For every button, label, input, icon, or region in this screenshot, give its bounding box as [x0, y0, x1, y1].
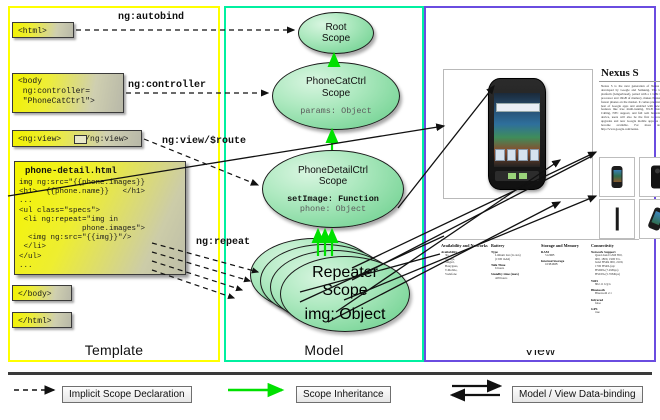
- scope-phonecatctrl: PhoneCatCtrl Scope params: Object: [272, 62, 400, 130]
- label-ng-controller: ng:controller: [128, 80, 206, 91]
- phone-detail-template-note: phone-detail.html img ng:src="{{phone.im…: [14, 161, 186, 275]
- phone-dock: [495, 171, 539, 181]
- legend-divider: [8, 372, 652, 375]
- spec-value: Vodafone: [441, 273, 489, 277]
- phone-specs-table: Availability and Networks Availability 3…: [441, 243, 639, 305]
- spec-value: 428 hours: [491, 277, 539, 281]
- scope-phonecatctrl-attr-params: params: Object: [300, 106, 371, 116]
- ngview-slot-icon: [74, 135, 87, 144]
- scope-repeater-line2: Scope: [322, 282, 367, 300]
- phone-thumbnail-2[interactable]: [639, 157, 660, 197]
- label-ng-repeat: ng:repeat: [196, 237, 250, 248]
- scope-repeater-attr-img: img: Object: [305, 306, 386, 324]
- spec-column-connectivity: Connectivity Network Support Quad-band G…: [591, 243, 639, 305]
- spec-value: 16384MB: [541, 263, 589, 267]
- label-ng-autobind: ng:autobind: [118, 12, 184, 23]
- scope-root-line1: Root: [325, 22, 346, 34]
- column-model-label: Model: [226, 342, 422, 358]
- spec-column-battery: Battery Type Lithium Ion (Li-Ion) (1500 …: [491, 243, 539, 305]
- scope-phonedetailctrl-attr-setimage: setImage: Function: [287, 194, 379, 204]
- legend-item-implicit: Implicit Scope Declaration: [62, 384, 192, 403]
- legend-item-inheritance: Scope Inheritance: [296, 384, 391, 403]
- spec-column-availability: Availability and Networks Availability 3…: [441, 243, 489, 305]
- column-template-label: Template: [10, 342, 218, 358]
- scope-phonecatctrl-line1: PhoneCatCtrl: [306, 76, 366, 88]
- code-html-open: <html>: [12, 22, 74, 38]
- view-phone-description: Nexus S is the next generation of Nexus …: [601, 85, 660, 132]
- phone-thumbnail-4[interactable]: [639, 199, 660, 239]
- scope-phonedetailctrl-line1: PhoneDetailCtrl: [298, 165, 368, 177]
- spec-header-availability: Availability and Networks: [441, 243, 489, 248]
- legend-label-databinding: Model / View Data-binding: [512, 386, 643, 403]
- code-body-close: </body>: [12, 285, 72, 301]
- spec-value: true: [591, 311, 639, 315]
- legend-label-inheritance: Scope Inheritance: [296, 386, 391, 403]
- legend-label-implicit: Implicit Scope Declaration: [62, 386, 192, 403]
- phone-hero-frame: [443, 69, 593, 199]
- note-code: img ng:src="{{phone.images}} <h1> {{phon…: [19, 179, 181, 271]
- scope-repeater-line1: Repeater: [312, 264, 378, 282]
- repeater-scope-front: Repeater Scope img: Object: [280, 256, 410, 332]
- scope-phonedetailctrl: PhoneDetailCtrl Scope setImage: Function…: [262, 150, 404, 228]
- view-phone-title: Nexus S: [601, 67, 639, 79]
- code-html-close: </html>: [12, 312, 72, 328]
- phone-hero-image: [488, 78, 546, 190]
- rendered-view-page: Nexus S Nexus S is the next generation o…: [432, 16, 646, 350]
- repeater-scope-stack: Repeater Scope img: Object: [250, 238, 410, 334]
- phone-search-widget: [496, 103, 540, 112]
- scope-phonedetailctrl-attr-phone: phone: Object: [300, 204, 366, 214]
- diagram-canvas: Template <html> <body ng:controller= "Ph…: [0, 0, 660, 420]
- legend-databinding-glyph: [452, 386, 500, 395]
- phone-thumbnail-3[interactable]: [599, 199, 635, 239]
- scope-root-line2: Scope: [322, 33, 350, 45]
- code-body-open: <body ng:controller= "PhoneCatCtrl">: [12, 73, 124, 113]
- phone-thumbnail-1[interactable]: [599, 157, 635, 197]
- phone-app-icons: [495, 149, 539, 161]
- scope-root: Root Scope: [298, 12, 374, 54]
- specs-divider: [441, 239, 639, 240]
- spec-column-storage: Storage and Memory RAM 512MB Internal St…: [541, 243, 589, 305]
- view-title-rule: [599, 81, 660, 82]
- note-filename: phone-detail.html: [19, 164, 181, 179]
- label-ng-view-route: ng:view/$route: [162, 136, 246, 147]
- legend-item-databinding: Model / View Data-binding: [512, 384, 643, 403]
- scope-phonecatctrl-line2: Scope: [322, 88, 350, 100]
- scope-phonedetailctrl-line2: Scope: [319, 176, 347, 188]
